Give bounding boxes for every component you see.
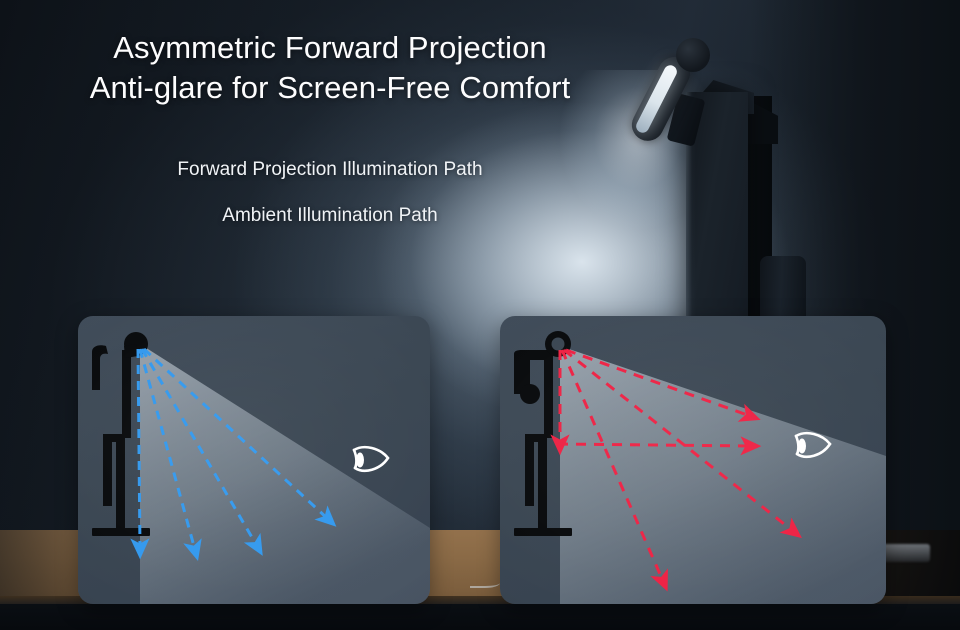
eye-icon xyxy=(354,447,388,471)
forward-projection-diagram-card[interactable] xyxy=(78,316,430,604)
floor-band xyxy=(0,604,960,630)
title-line-2: Anti-glare for Screen-Free Comfort xyxy=(0,68,660,108)
ambient-illumination-diagram-svg xyxy=(500,316,886,604)
power-cable xyxy=(470,578,500,588)
legend-forward-path-label: Forward Projection Illumination Path xyxy=(0,156,660,184)
title-line-1: Asymmetric Forward Projection xyxy=(0,28,660,68)
legend-labels: Forward Projection Illumination Path Amb… xyxy=(0,156,660,230)
light-bar-end-cap xyxy=(676,38,710,72)
page-title: Asymmetric Forward Projection Anti-glare… xyxy=(0,28,660,108)
ray-1 xyxy=(138,349,140,548)
product-illustration-stage: Asymmetric Forward Projection Anti-glare… xyxy=(0,0,960,630)
forward-projection-diagram-svg xyxy=(78,316,430,604)
illumination-cone xyxy=(140,344,430,604)
legend-ambient-path-label: Ambient Illumination Path xyxy=(0,202,660,230)
ambient-illumination-diagram-card[interactable] xyxy=(500,316,886,604)
